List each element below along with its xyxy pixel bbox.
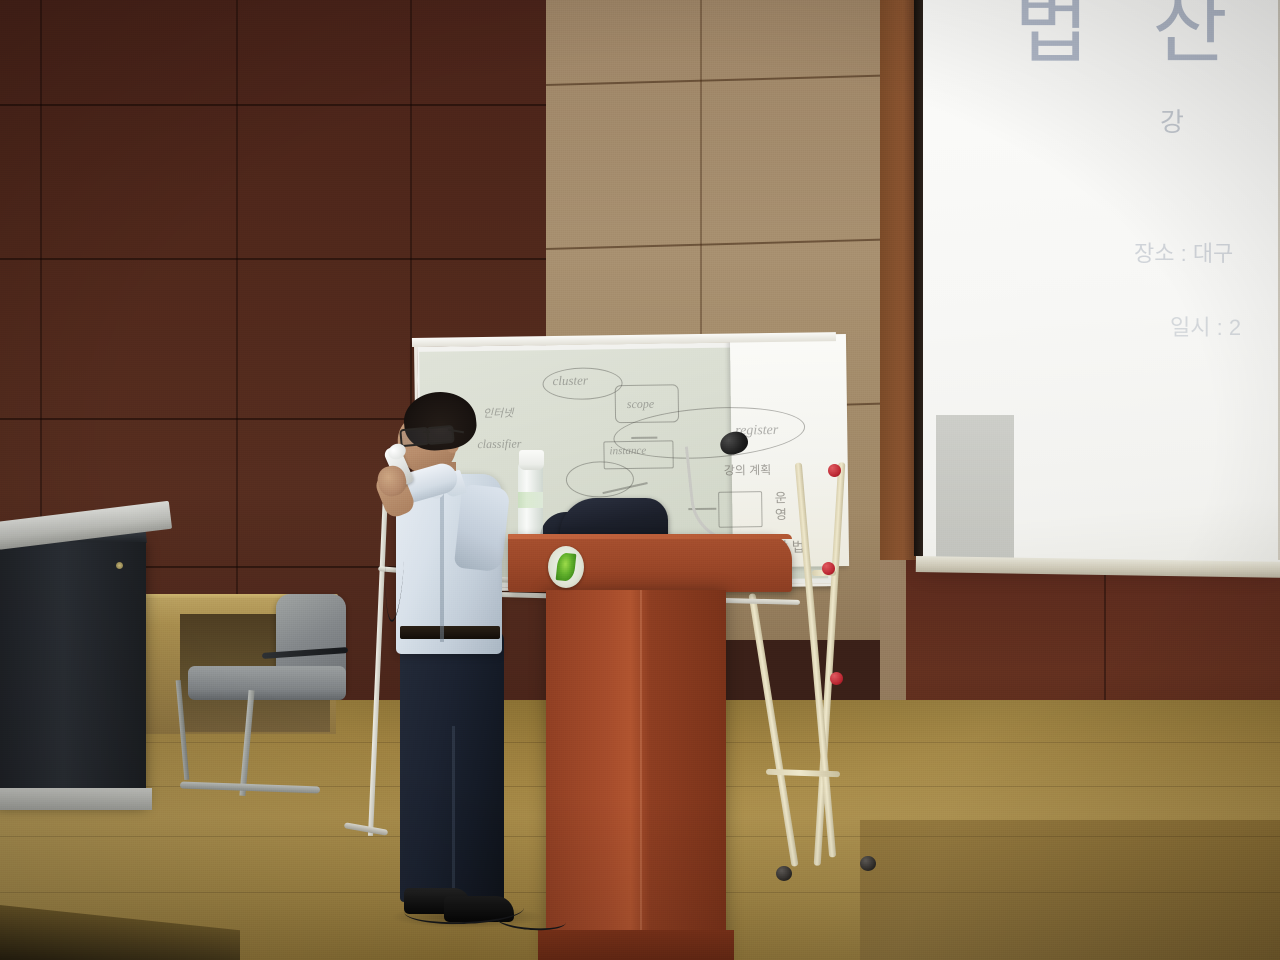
photo-scene: 법 산 응 강 장소 : 대구 일시 : 2 cluster scope 인터넷…: [0, 0, 1280, 960]
easel-knob-low[interactable]: [830, 672, 843, 685]
podium-base: [538, 930, 734, 960]
eyeglasses-lens-right: [426, 425, 454, 445]
wall-seam: [0, 104, 546, 106]
av-lectern-body: [0, 542, 146, 808]
eyeglasses-lens-left: [399, 427, 429, 447]
chair-seat: [188, 666, 346, 700]
presenter-belt: [400, 626, 500, 639]
easel-caster-right: [860, 856, 876, 871]
av-lectern-base: [0, 788, 152, 810]
paper-cup: [519, 450, 544, 470]
wall-seam: [0, 258, 546, 260]
podium-top-highlight: [508, 534, 792, 539]
podium-body: [546, 590, 726, 960]
slide-lecturer-line: 강: [1160, 102, 1184, 139]
slide-place-line: 장소 : 대구: [1134, 236, 1233, 268]
easel-caster-front: [776, 866, 792, 881]
presenter-shirt-placket: [440, 492, 444, 642]
ink-note: cluster: [552, 373, 588, 389]
slide-date-line: 일시 : 2: [1170, 310, 1241, 342]
podium-corner-edge: [640, 590, 642, 960]
ink-cjk-note: 운 영: [770, 491, 789, 521]
projection-screen: 법 산 응 강 장소 : 대구 일시 : 2: [922, 0, 1280, 576]
ink-note: 인터넷: [483, 405, 514, 421]
eyeglasses-bridge: [423, 431, 430, 433]
screen-frame-left: [914, 0, 923, 556]
ink-note: classifier: [477, 437, 521, 453]
lectern-fastener: [116, 562, 123, 569]
easel-knob-top[interactable]: [828, 464, 841, 477]
presenter-sleeve: [454, 484, 511, 573]
easel-knob-mid[interactable]: [822, 562, 835, 575]
water-bottle-label: [518, 492, 543, 508]
presenter-trouser-crease: [452, 726, 455, 904]
slide-title: 법 산 응: [1014, 0, 1280, 79]
screen-shadow-panel: [936, 415, 1014, 561]
